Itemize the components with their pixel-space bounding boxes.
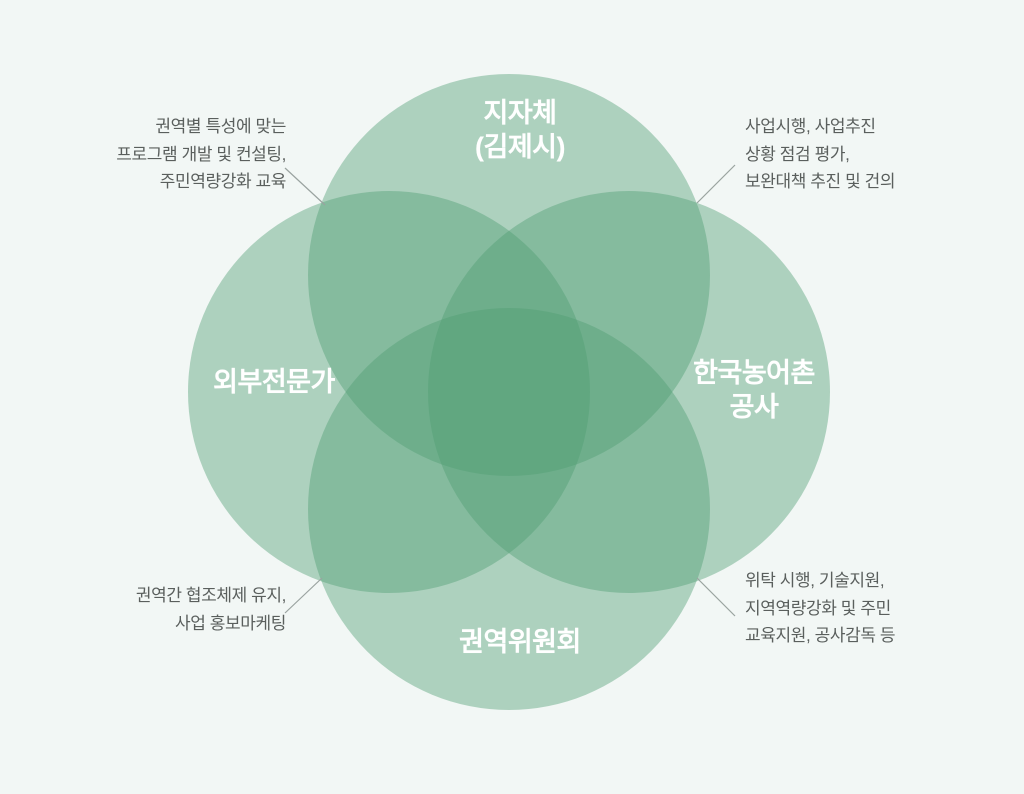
annotation-top-right: 사업시행, 사업추진 상황 점검 평가, 보완대책 추진 및 건의 <box>745 113 1017 196</box>
leader-line-bottom-right <box>697 578 735 616</box>
circle-label-left: 외부전문가 <box>126 365 422 399</box>
circle-label-right: 한국농어촌 공사 <box>606 356 902 424</box>
leader-line-top-right <box>697 165 735 203</box>
annotation-bottom-left: 권역간 협조체제 유지, 사업 홍보마케팅 <box>14 582 286 637</box>
circle-label-bottom: 권역위원회 <box>372 625 668 659</box>
circle-label-top: 지자체 (김제시) <box>372 96 668 164</box>
venn-diagram-stage: 지자체 (김제시) 외부전문가 한국농어촌 공사 권역위원회 권역별 특성에 맞… <box>0 0 1024 794</box>
leader-line-bottom-left <box>285 578 322 613</box>
leader-line-top-left <box>285 168 325 205</box>
annotation-top-left: 권역별 특성에 맞는 프로그램 개발 및 컨설팅, 주민역량강화 교육 <box>14 113 286 196</box>
annotation-bottom-right: 위탁 시행, 기술지원, 지역역량강화 및 주민 교육지원, 공사감독 등 <box>745 567 1017 650</box>
